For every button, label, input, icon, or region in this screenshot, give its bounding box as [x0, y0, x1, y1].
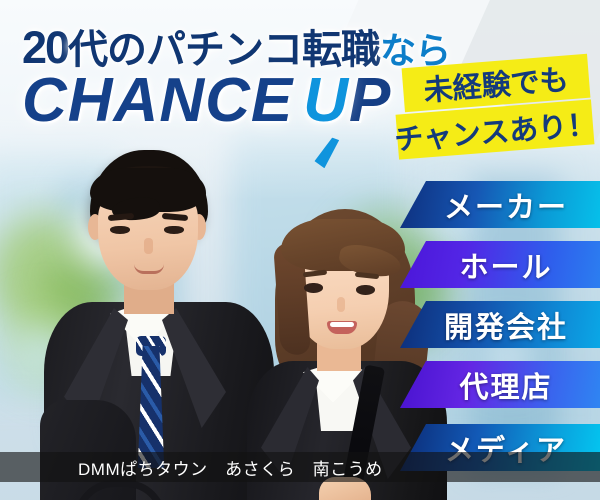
woman-eye-right — [356, 285, 375, 295]
headline-line-2: CHANCEUP — [22, 70, 391, 132]
headline-up-letter-u: U — [303, 66, 349, 135]
woman-nose — [337, 297, 345, 312]
pachinko-job-banner: 20代のパチンコ転職なら CHANCEUP 未経験でも チャンスあり！ メーカー… — [0, 0, 600, 500]
category-button-agency[interactable]: 代理店 — [400, 361, 600, 408]
man-nose — [144, 238, 153, 254]
category-button-development-company[interactable]: 開発会社 — [400, 301, 600, 348]
inexperienced-welcome-badge: 未経験でも チャンスあり！ — [395, 55, 595, 160]
caption-bar: DMMぱちタウン あさくら 南こうめ — [0, 452, 600, 482]
woman-mouth — [327, 321, 357, 334]
category-label-hall: ホール — [400, 244, 600, 286]
caption-text: DMMぱちタウン あさくら 南こうめ — [0, 455, 383, 480]
headline-up-letter-p: P — [349, 66, 391, 135]
headline-chance-word: CHANCE — [22, 66, 293, 135]
headline-up-word: UP — [303, 66, 391, 135]
category-button-maker[interactable]: メーカー — [400, 181, 600, 228]
man-hair-fringe — [90, 168, 206, 212]
man-eye-right — [164, 226, 184, 234]
category-label-development-company: 開発会社 — [400, 304, 600, 346]
man-eye-left — [110, 226, 130, 234]
woman-hair-bangs — [281, 219, 405, 271]
category-button-hall[interactable]: ホール — [400, 241, 600, 288]
category-label-maker: メーカー — [400, 184, 600, 226]
category-label-agency: 代理店 — [400, 364, 600, 406]
photo-businessman — [52, 150, 267, 500]
woman-eye-left — [304, 283, 323, 293]
